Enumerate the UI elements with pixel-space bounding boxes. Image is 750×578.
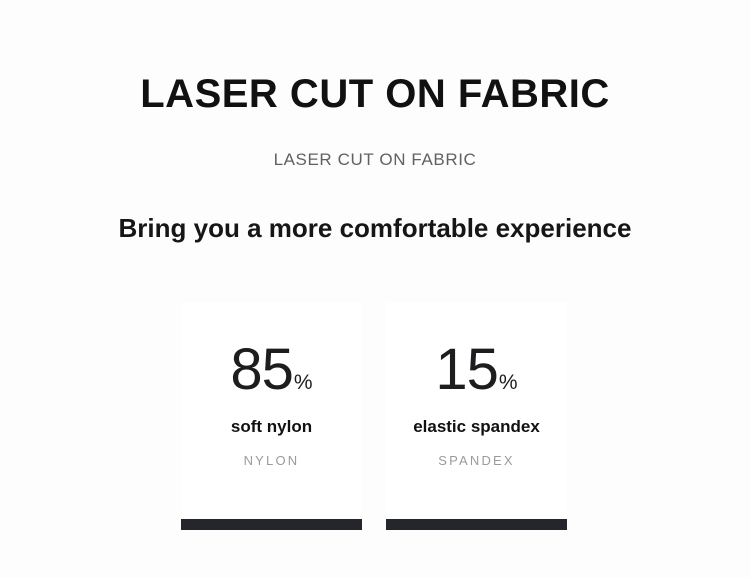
page-subtitle: LASER CUT ON FABRIC — [0, 148, 750, 172]
composition-material-code: NYLON — [244, 452, 300, 470]
composition-card-accent-bar — [181, 519, 362, 530]
composition-percentage-value: 85 — [230, 342, 293, 398]
composition-percentage: 15 % — [435, 342, 517, 398]
composition-card-accent-bar — [386, 519, 567, 530]
percent-sign-icon: % — [294, 372, 313, 393]
fabric-composition-banner: LASER CUT ON FABRIC LASER CUT ON FABRIC … — [0, 0, 750, 578]
composition-material-code: SPANDEX — [438, 452, 515, 470]
percent-sign-icon: % — [499, 372, 518, 393]
composition-card-body: 85 % soft nylon NYLON — [181, 302, 362, 519]
composition-percentage-value: 15 — [435, 342, 498, 398]
composition-cards-row: 85 % soft nylon NYLON 15 % elastic spand… — [181, 302, 567, 530]
page-tagline: Bring you a more comfortable experience — [0, 210, 750, 246]
composition-card-spandex: 15 % elastic spandex SPANDEX — [386, 302, 567, 530]
composition-card-nylon: 85 % soft nylon NYLON — [181, 302, 362, 530]
page-title: LASER CUT ON FABRIC — [0, 70, 750, 118]
composition-percentage: 85 % — [230, 342, 312, 398]
composition-material-name: soft nylon — [231, 416, 312, 438]
composition-card-body: 15 % elastic spandex SPANDEX — [386, 302, 567, 519]
composition-material-name: elastic spandex — [413, 416, 540, 438]
